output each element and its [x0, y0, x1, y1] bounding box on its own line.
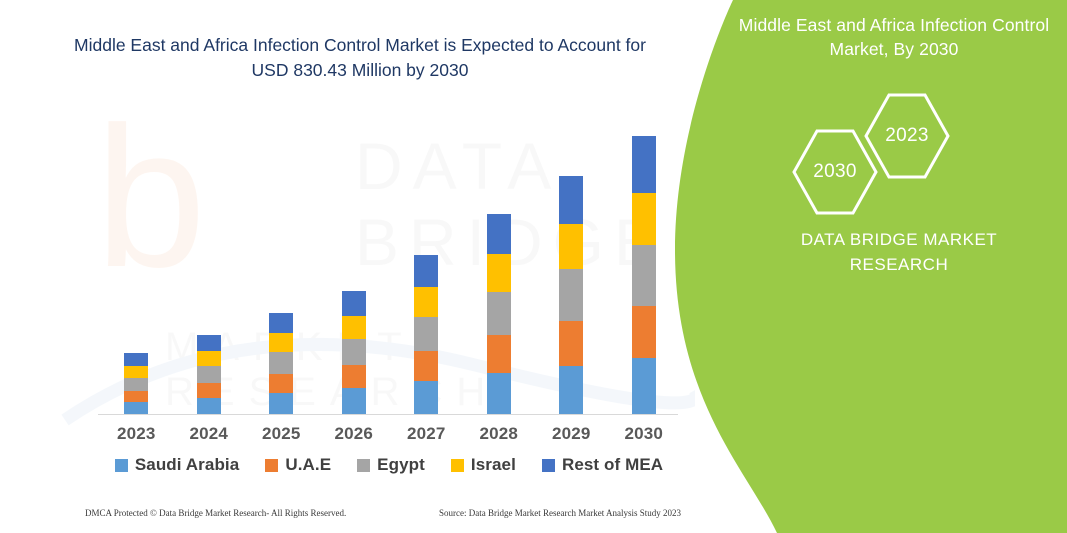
bar-segment: [414, 351, 438, 381]
legend-swatch-icon: [542, 459, 555, 472]
bar-segment: [559, 224, 583, 269]
brand-name: DATA BRIDGE MARKET RESEARCH: [731, 228, 1067, 277]
hexagon-2023: 2023: [861, 90, 953, 182]
bar-segment: [559, 366, 583, 414]
hexagon-2030-label: 2030: [813, 161, 856, 183]
x-axis-tick-label: 2029: [535, 424, 607, 444]
bar-segment: [414, 381, 438, 414]
infographic-page: Middle East and Africa Infection Control…: [0, 0, 1067, 533]
bar-segment: [342, 316, 366, 339]
hexagon-2023-label: 2023: [885, 125, 928, 147]
brand-name-line1: DATA BRIDGE MARKET: [731, 228, 1067, 253]
bar-segment: [269, 374, 293, 393]
legend: Saudi ArabiaU.A.EEgyptIsraelRest of MEA: [98, 453, 680, 477]
bar-segment: [632, 193, 656, 245]
bar-segment: [124, 378, 148, 391]
brand-name-line2: RESEARCH: [731, 253, 1067, 278]
legend-label: U.A.E: [285, 455, 331, 475]
legend-item[interactable]: Israel: [451, 455, 516, 475]
legend-item[interactable]: Egypt: [357, 455, 425, 475]
bar-segment: [487, 335, 511, 373]
hexagon-group: 2030 2023: [731, 90, 1067, 220]
bar-segment: [124, 366, 148, 378]
bar-segment: [342, 388, 366, 414]
bar-segment: [342, 365, 366, 388]
x-axis-tick-label: 2025: [245, 424, 317, 444]
bar-segment: [559, 176, 583, 224]
bar-segment: [487, 254, 511, 292]
x-axis-tick-label: 2027: [390, 424, 462, 444]
legend-swatch-icon: [451, 459, 464, 472]
bar-segment: [197, 335, 221, 351]
legend-item[interactable]: Saudi Arabia: [115, 455, 240, 475]
bar-segment: [197, 351, 221, 366]
bar-segment: [632, 306, 656, 358]
plot-region: 20232024202520262027202820292030 Saudi A…: [0, 0, 720, 533]
bar-segment: [197, 383, 221, 398]
x-axis-labels: 20232024202520262027202820292030: [98, 424, 678, 448]
bar-segment: [632, 136, 656, 193]
x-axis-tick-label: 2026: [318, 424, 390, 444]
bar-segment: [632, 358, 656, 414]
bar-column: [632, 136, 656, 414]
legend-label: Rest of MEA: [562, 455, 663, 475]
bar-segment: [197, 366, 221, 383]
bar-segment: [487, 292, 511, 335]
bar-column: [559, 176, 583, 414]
bar-segment: [559, 321, 583, 366]
bar-segment: [487, 214, 511, 254]
bar-column: [124, 353, 148, 414]
x-axis-tick-label: 2028: [463, 424, 535, 444]
x-axis-line: [98, 414, 678, 415]
brand-panel-title: Middle East and Africa Infection Control…: [731, 14, 1057, 61]
legend-item[interactable]: U.A.E: [265, 455, 331, 475]
bar-segment: [414, 255, 438, 287]
bar-segment: [414, 317, 438, 351]
chart-area: Middle East and Africa Infection Control…: [0, 0, 720, 533]
x-axis-tick-label: 2024: [173, 424, 245, 444]
bar-segment: [487, 373, 511, 414]
bar-segment: [197, 398, 221, 414]
bar-column: [487, 214, 511, 414]
bar-segment: [342, 339, 366, 365]
bar-segment: [269, 352, 293, 374]
bar-segment: [269, 313, 293, 333]
bar-segment: [124, 353, 148, 366]
bar-column: [269, 313, 293, 414]
legend-swatch-icon: [115, 459, 128, 472]
bar-group: [98, 120, 678, 414]
bar-segment: [269, 333, 293, 352]
legend-item[interactable]: Rest of MEA: [542, 455, 663, 475]
legend-label: Saudi Arabia: [135, 455, 240, 475]
bar-segment: [124, 391, 148, 402]
x-axis-tick-label: 2023: [100, 424, 172, 444]
bar-column: [342, 291, 366, 414]
legend-swatch-icon: [265, 459, 278, 472]
bar-segment: [124, 402, 148, 414]
bar-segment: [559, 269, 583, 321]
brand-panel: Middle East and Africa Infection Control…: [667, 0, 1067, 533]
bar-segment: [342, 291, 366, 316]
bar-segment: [632, 245, 656, 306]
bar-segment: [414, 287, 438, 317]
bar-column: [414, 255, 438, 414]
bar-column: [197, 335, 221, 414]
legend-label: Egypt: [377, 455, 425, 475]
legend-label: Israel: [471, 455, 516, 475]
bar-segment: [269, 393, 293, 414]
legend-swatch-icon: [357, 459, 370, 472]
